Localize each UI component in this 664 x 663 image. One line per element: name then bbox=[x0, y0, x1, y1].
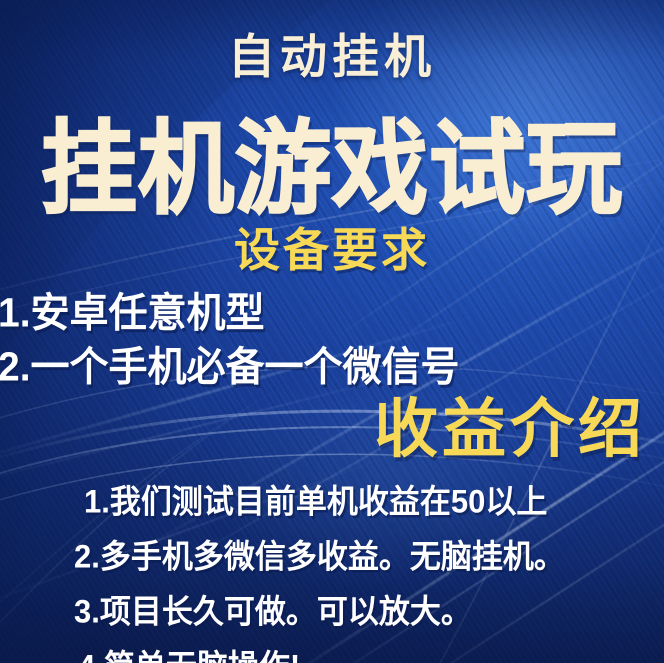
income-introduction-heading: 收益介绍 bbox=[374, 397, 646, 461]
income-item-3: 3.项目长久可做。可以放大。 bbox=[0, 585, 664, 632]
device-requirements-heading: 设备要求 bbox=[0, 227, 664, 273]
device-requirement-item-1: 1.安卓任意机型 bbox=[0, 293, 265, 334]
income-item-2: 2.多手机多微信多收益。无脑挂机。 bbox=[0, 530, 664, 577]
poster-content: 自动挂机 挂机游戏试玩 设备要求 1.安卓任意机型 2.一个手机必备一个微信号 … bbox=[0, 0, 664, 663]
poster-kicker: 自动挂机 bbox=[0, 33, 664, 80]
income-introduction-list: 1.我们测试目前单机收益在50以上 2.多手机多微信多收益。无脑挂机。 3.项目… bbox=[0, 476, 664, 663]
poster-headline: 挂机游戏试玩 bbox=[0, 119, 664, 221]
income-item-4: 4.简单无脑操作! bbox=[0, 640, 664, 663]
income-item-1: 1.我们测试目前单机收益在50以上 bbox=[0, 475, 664, 522]
promo-poster: 自动挂机 挂机游戏试玩 设备要求 1.安卓任意机型 2.一个手机必备一个微信号 … bbox=[0, 0, 664, 663]
device-requirement-item-2: 2.一个手机必备一个微信号 bbox=[0, 347, 460, 388]
